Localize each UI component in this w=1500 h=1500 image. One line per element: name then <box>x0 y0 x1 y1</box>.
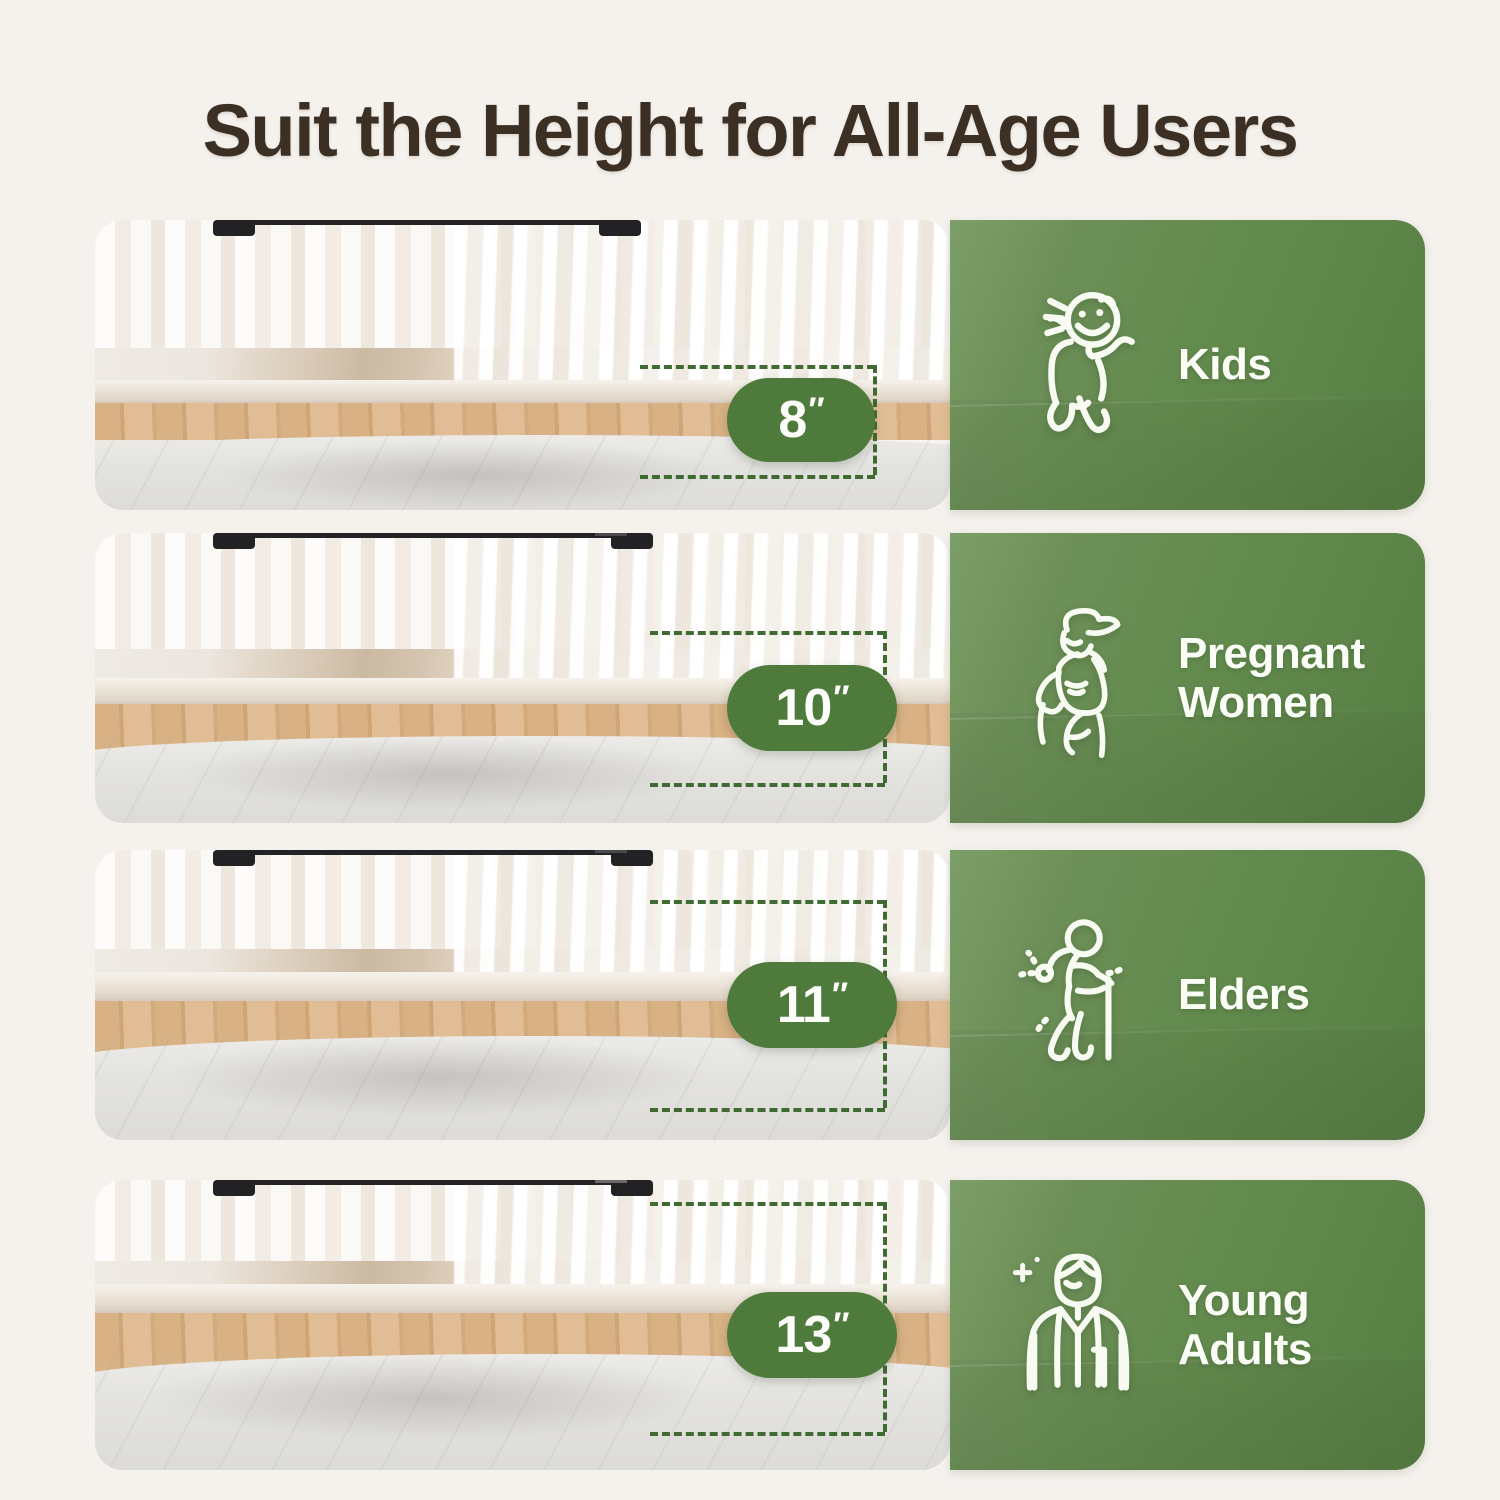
bed-shadow <box>146 1354 710 1441</box>
user-group-panel[interactable]: Kids <box>950 220 1425 510</box>
bed-safety-rail <box>220 850 638 855</box>
height-option-row: 8″ Kids <box>95 220 1425 510</box>
height-unit: ″ <box>833 681 848 715</box>
height-badge: 13″ <box>727 1292 897 1378</box>
height-value: 13 <box>775 1309 831 1361</box>
user-group-label: Pregnant Women <box>1178 629 1365 728</box>
bed-shadow <box>163 1036 710 1117</box>
rail-bracket-left <box>213 220 255 236</box>
bed-safety-rail <box>220 220 620 225</box>
bed-safety-rail <box>220 533 638 538</box>
user-group-label-line: Adults <box>1178 1325 1312 1374</box>
user-group-panel[interactable]: Pregnant Women <box>950 533 1425 823</box>
height-value: 8 <box>778 394 806 446</box>
measure-line-top <box>650 900 885 904</box>
measure-line-bottom <box>650 1108 885 1112</box>
height-value: 10 <box>775 682 831 734</box>
user-group-panel[interactable]: Elders <box>950 850 1425 1140</box>
measure-line-bottom <box>650 1432 885 1436</box>
extension-band <box>595 533 626 536</box>
rail-bracket-right <box>599 220 641 236</box>
measure-line-top <box>640 365 875 369</box>
rail-bracket-left <box>213 850 255 866</box>
user-group-panel[interactable]: Young Adults <box>950 1180 1425 1470</box>
height-badge: 8″ <box>727 378 875 462</box>
measure-line-top <box>650 1202 885 1206</box>
height-option-row: 10″ Pregnant Women <box>95 533 1425 823</box>
young-adult-suit-icon <box>1000 1245 1150 1405</box>
rail-bracket-left <box>213 1180 255 1196</box>
height-value: 11 <box>777 979 830 1031</box>
bed-safety-rail <box>220 1180 638 1185</box>
user-group-label-line: Pregnant <box>1178 629 1365 678</box>
rail-bracket-left <box>213 533 255 549</box>
baby-waving-icon <box>1000 285 1150 445</box>
pregnant-woman-icon <box>1000 598 1150 758</box>
height-option-row: 11″ Elders <box>95 850 1425 1140</box>
height-badge: 11″ <box>727 962 897 1048</box>
extension-band <box>595 850 626 853</box>
user-group-label-line: Women <box>1178 678 1365 727</box>
measure-line-top <box>650 631 885 635</box>
height-unit: ″ <box>833 1308 848 1342</box>
bed-shadow <box>181 736 711 811</box>
page-title: Suit the Height for All-Age Users <box>0 88 1500 173</box>
extension-band <box>595 1180 626 1183</box>
elderly-person-with-cane-icon <box>1000 915 1150 1075</box>
height-badge: 10″ <box>727 665 897 751</box>
user-group-label: Kids <box>1178 340 1271 389</box>
measure-line-bottom <box>650 783 885 787</box>
user-group-label-line: Young <box>1178 1276 1312 1325</box>
user-group-label: Young Adults <box>1178 1276 1312 1375</box>
user-group-label: Elders <box>1178 970 1310 1019</box>
measure-line-bottom <box>640 475 875 479</box>
height-option-row: 13″ Young Adults <box>95 1180 1425 1470</box>
height-unit: ″ <box>808 393 823 427</box>
height-unit: ″ <box>832 978 847 1012</box>
